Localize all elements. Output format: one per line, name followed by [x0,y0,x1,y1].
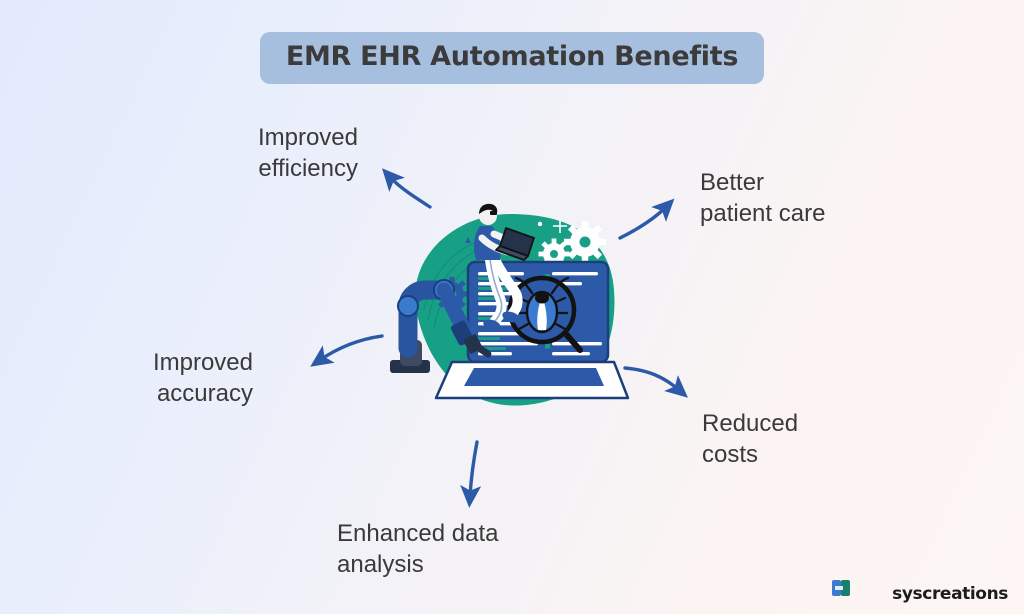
arrow-down-right-icon [625,368,679,390]
benefit-label-improved-efficiency: Improved efficiency [153,123,358,184]
automation-laptop-illustration [382,198,632,428]
benefit-label-enhanced-data-analysis: Enhanced data analysis [337,519,567,580]
arrow-down-icon [470,442,477,496]
logo-text: syscreations [892,584,1008,604]
brand-logo: syscreations [786,577,1008,604]
benefit-label-reduced-costs: Reduced costs [702,409,932,470]
arrow-down-left-icon [320,336,382,360]
benefit-label-improved-accuracy: Improved accuracy [55,348,253,409]
benefit-label-better-patient-care: Better patient care [700,168,940,229]
logo-mark-icon [786,577,892,599]
